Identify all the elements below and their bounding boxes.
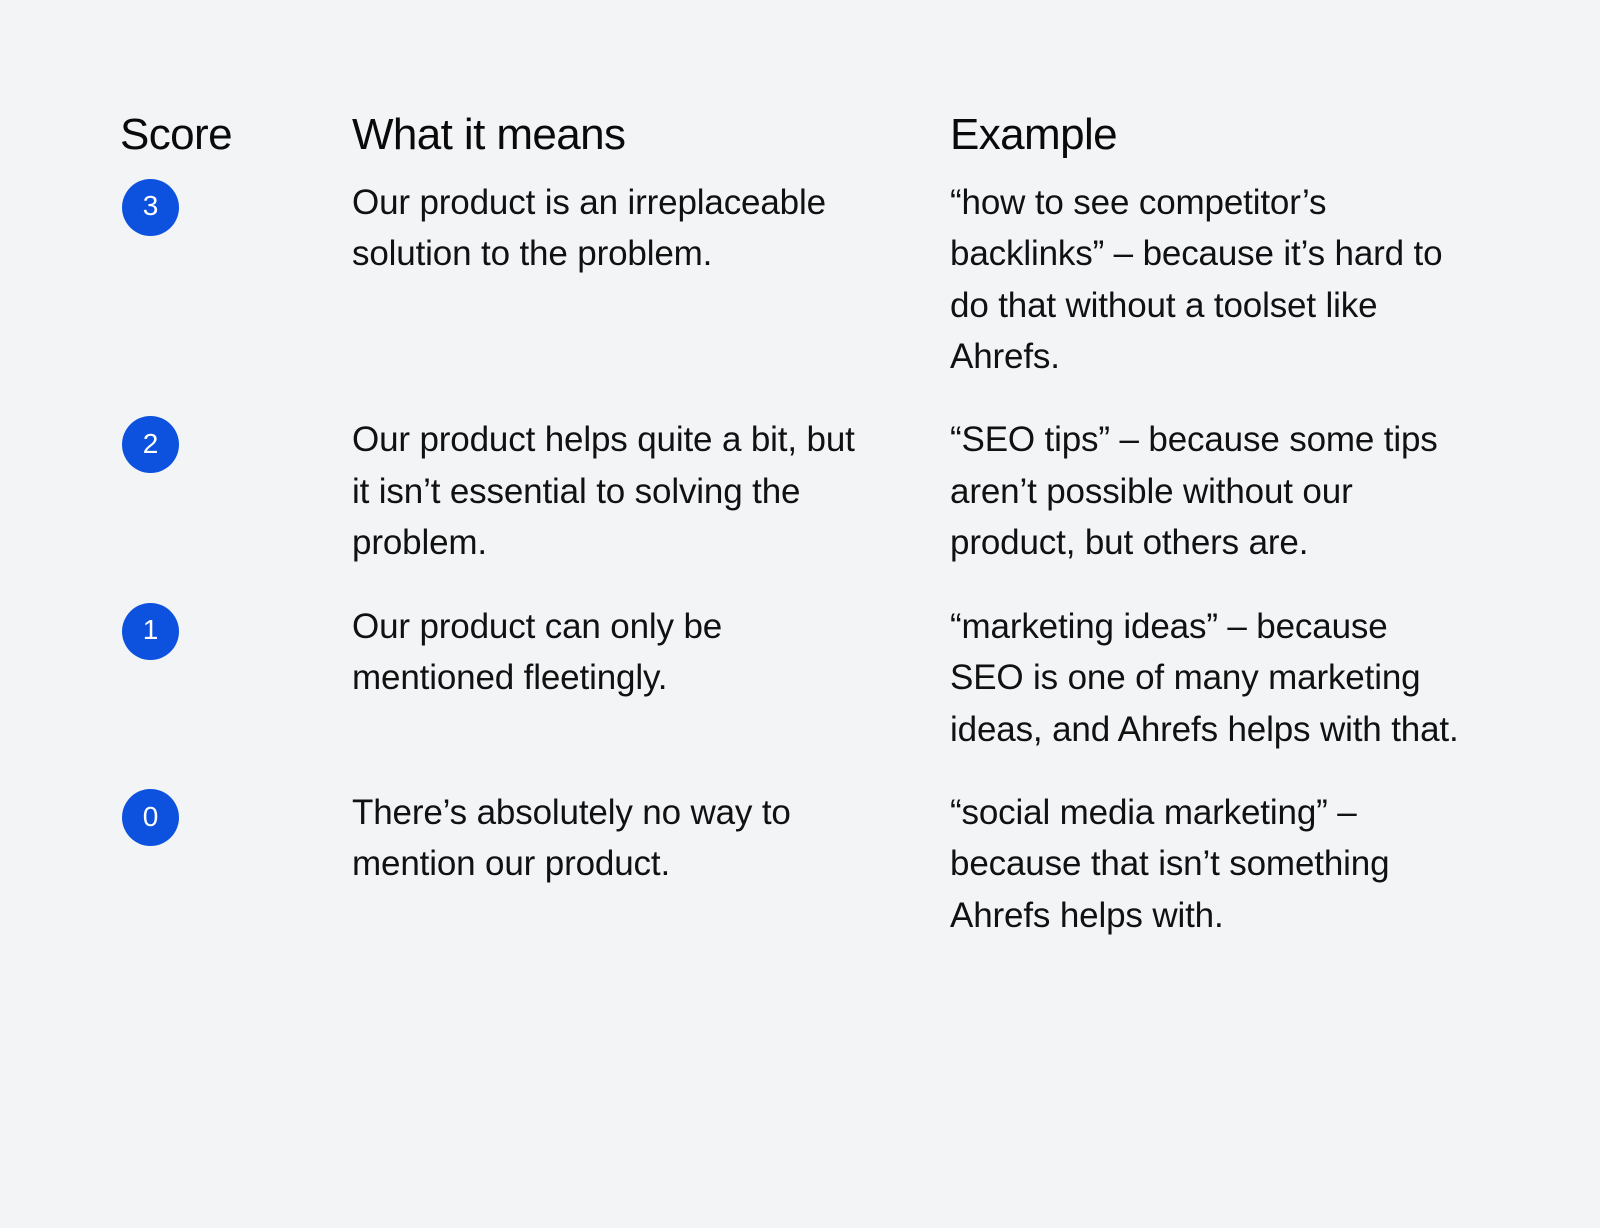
- table-row: 0 There’s absolutely no way to mention o…: [118, 787, 1518, 941]
- score-cell: 1: [118, 601, 346, 660]
- score-rubric-table: Score What it means Example 3 Our produc…: [118, 112, 1518, 941]
- score-cell: 2: [118, 414, 346, 473]
- what-it-means-cell: Our product helps quite a bit, but it is…: [346, 414, 877, 568]
- score-rubric-sheet: Score What it means Example 3 Our produc…: [0, 0, 1600, 1228]
- column-header-score: Score: [118, 112, 346, 159]
- score-cell: 3: [118, 177, 346, 236]
- table-row: 1 Our product can only be mentioned flee…: [118, 601, 1518, 755]
- score-cell: 0: [118, 787, 346, 846]
- example-cell: “how to see competitor’s backlinks” – be…: [936, 177, 1470, 383]
- score-badge: 2: [122, 416, 179, 473]
- what-it-means-cell: Our product is an irreplaceable solution…: [346, 177, 877, 280]
- example-cell: “social media marketing” – because that …: [936, 787, 1470, 941]
- table-header-row: Score What it means Example: [118, 112, 1518, 159]
- score-badge: 1: [122, 603, 179, 660]
- table-row: 2 Our product helps quite a bit, but it …: [118, 414, 1518, 568]
- what-it-means-cell: There’s absolutely no way to mention our…: [346, 787, 877, 890]
- table-row: 3 Our product is an irreplaceable soluti…: [118, 177, 1518, 383]
- score-badge: 3: [122, 179, 179, 236]
- example-cell: “SEO tips” – because some tips aren’t po…: [936, 414, 1470, 568]
- example-cell: “marketing ideas” – because SEO is one o…: [936, 601, 1470, 755]
- what-it-means-cell: Our product can only be mentioned fleeti…: [346, 601, 877, 704]
- column-header-example: Example: [936, 112, 1496, 159]
- score-badge: 0: [122, 789, 179, 846]
- column-header-what-it-means: What it means: [346, 112, 936, 159]
